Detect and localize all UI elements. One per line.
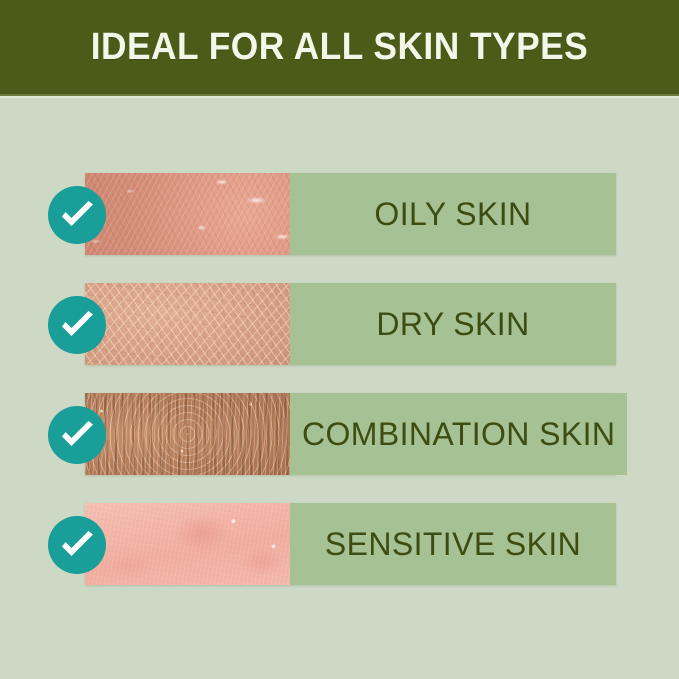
check-icon <box>48 186 106 244</box>
check-icon-glyph <box>59 201 96 230</box>
check-icon <box>48 406 106 464</box>
dry-skin-texture <box>85 283 290 365</box>
header-banner: IDEAL FOR ALL SKIN TYPES <box>0 0 679 94</box>
sensitive-skin-texture <box>85 503 290 585</box>
list-item-label: OILY SKIN <box>374 196 531 233</box>
list-item-label: SENSITIVE SKIN <box>325 526 581 563</box>
check-icon-glyph <box>59 421 96 450</box>
list-item-label: DRY SKIN <box>376 306 529 343</box>
combination-skin-texture <box>85 393 290 475</box>
list-item: DRY SKIN <box>85 283 616 365</box>
check-icon-glyph <box>59 531 96 560</box>
page-title: IDEAL FOR ALL SKIN TYPES <box>91 26 588 69</box>
list-item: OILY SKIN <box>85 173 616 255</box>
oily-skin-texture <box>85 173 290 255</box>
header-divider <box>0 94 679 98</box>
label-panel-dry: DRY SKIN <box>290 283 616 365</box>
list-item-label: COMBINATION SKIN <box>302 416 615 453</box>
list-item: SENSITIVE SKIN <box>85 503 616 585</box>
check-icon <box>48 516 106 574</box>
label-panel-oily: OILY SKIN <box>290 173 616 255</box>
label-panel-sensitive: SENSITIVE SKIN <box>290 503 616 585</box>
check-icon-glyph <box>59 311 96 340</box>
check-icon <box>48 296 106 354</box>
label-panel-combination: COMBINATION SKIN <box>290 393 627 475</box>
list-item: COMBINATION SKIN <box>85 393 616 475</box>
skin-type-list: OILY SKIN DRY SKIN COMBINATION SKIN <box>85 173 616 585</box>
